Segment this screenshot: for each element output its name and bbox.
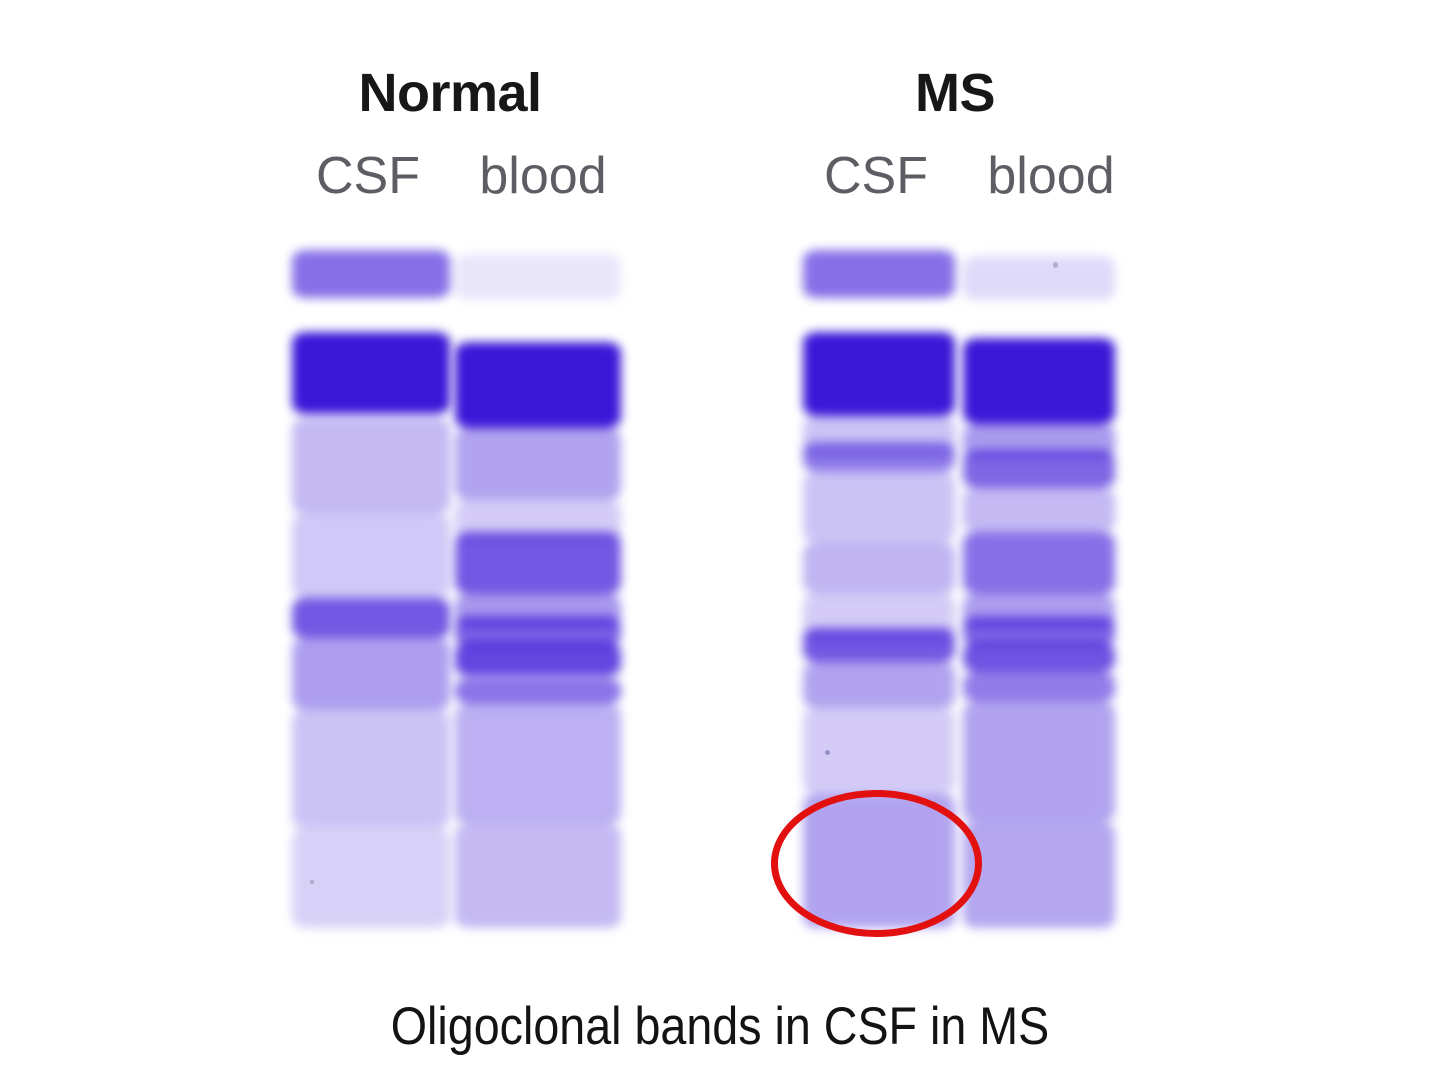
gel-band (292, 418, 450, 514)
gel-band (803, 662, 955, 708)
dust-speck (1053, 262, 1058, 268)
figure-caption: Oligoclonal bands in CSF in MS (391, 996, 1049, 1057)
gel-band (963, 702, 1115, 822)
gel-lane-ms-blood (963, 250, 1115, 928)
dust-speck (310, 880, 314, 884)
dust-speck (825, 750, 830, 755)
gel-band (963, 822, 1115, 928)
gel-lane-bands (963, 250, 1115, 928)
gel-band (292, 598, 450, 638)
lane-label-ms-csf: CSF (824, 146, 928, 206)
gel-band (963, 338, 1115, 424)
gel-band (963, 672, 1115, 702)
gel-band (455, 642, 621, 676)
gel-band (803, 472, 955, 542)
gel-band (455, 532, 621, 594)
gel-band (963, 488, 1115, 532)
group-title-ms: MS (915, 62, 995, 124)
group-title-normal: Normal (358, 62, 541, 124)
lane-label-ms-blood: blood (987, 146, 1114, 206)
oligoclonal-bands-figure: Normal MS CSF blood CSF blood Oligoclona… (0, 0, 1440, 1081)
gel-band (803, 442, 955, 472)
gel-lane-bands (455, 250, 621, 928)
lane-label-normal-blood: blood (479, 146, 606, 206)
lane-label-normal-csf: CSF (316, 146, 420, 206)
gel-band (455, 704, 621, 824)
gel-band (292, 710, 450, 828)
gel-band (963, 532, 1115, 594)
gel-band (292, 250, 450, 298)
gel-lane-normal-csf (292, 250, 450, 928)
gel-band (455, 824, 621, 928)
red-circle-annotation (771, 790, 982, 937)
gel-band (292, 828, 450, 928)
gel-band (292, 514, 450, 598)
gel-band (455, 428, 621, 500)
gel-band (803, 542, 955, 594)
gel-lane-bands (292, 250, 450, 928)
gel-band (963, 450, 1115, 488)
gel-band (803, 250, 955, 298)
gel-lane-normal-blood (455, 250, 621, 928)
gel-band (455, 678, 621, 704)
gel-band (803, 332, 955, 416)
gel-band (803, 628, 955, 662)
gel-band (292, 332, 450, 414)
gel-band (963, 642, 1115, 672)
gel-band (455, 342, 621, 428)
gel-band (963, 256, 1115, 300)
gel-band (292, 638, 450, 710)
gel-band (455, 254, 621, 300)
